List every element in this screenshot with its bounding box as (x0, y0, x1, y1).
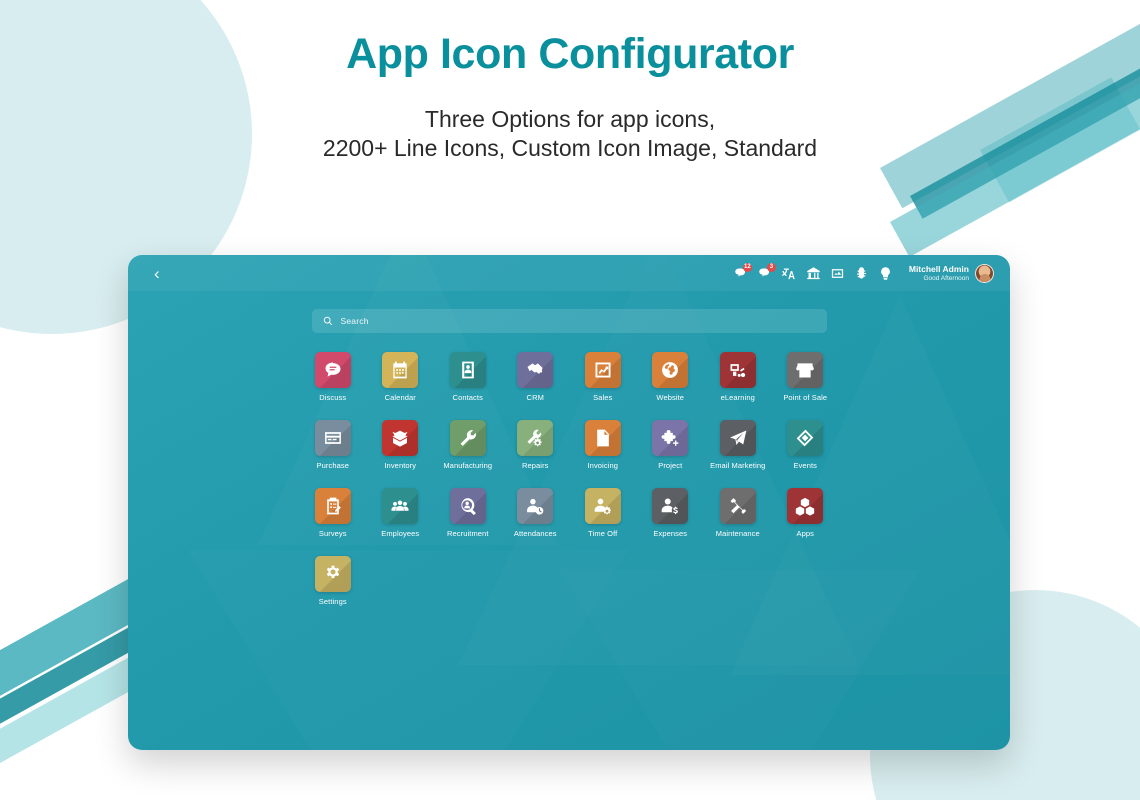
app-tile-project[interactable]: Project (637, 420, 705, 470)
app-icon-tile[interactable] (315, 556, 351, 592)
app-icon-tile[interactable] (450, 352, 486, 388)
page-subtitle-line-2: 2200+ Line Icons, Custom Icon Image, Sta… (0, 134, 1140, 163)
app-tile-inventory[interactable]: Inventory (367, 420, 435, 470)
app-icon-tile[interactable] (315, 488, 351, 524)
app-icon-tile[interactable] (787, 352, 823, 388)
app-icon-tile[interactable] (585, 420, 621, 456)
activities-icon[interactable]: 3 (758, 266, 773, 281)
messaging-badge: 12 (743, 263, 752, 272)
app-label: Contacts (453, 393, 483, 402)
app-tile-sales[interactable]: Sales (569, 352, 637, 402)
user-menu[interactable]: Mitchell Admin Good Afternoon (909, 264, 994, 283)
search-icon (323, 316, 333, 326)
systray: 12 3 (734, 264, 994, 283)
app-icon-tile[interactable] (517, 352, 553, 388)
app-tile-settings[interactable]: Settings (299, 556, 367, 606)
app-label: Sales (593, 393, 612, 402)
app-label: Purchase (317, 461, 350, 470)
app-icon-tile[interactable] (585, 488, 621, 524)
app-tile-elearning[interactable]: eLearning (704, 352, 772, 402)
app-icon-tile[interactable] (652, 352, 688, 388)
app-icon-tile[interactable] (720, 352, 756, 388)
app-tile-email-marketing[interactable]: Email Marketing (704, 420, 772, 470)
person-gear-icon (593, 496, 613, 516)
app-label: eLearning (721, 393, 755, 402)
app-label: Point of Sale (783, 393, 827, 402)
app-tile-apps[interactable]: Apps (772, 488, 840, 538)
app-label: Project (658, 461, 682, 470)
app-label: Apps (797, 529, 815, 538)
app-tile-point-of-sale[interactable]: Point of Sale (772, 352, 840, 402)
app-label: Email Marketing (710, 461, 765, 470)
app-icon-tile[interactable] (315, 352, 351, 388)
gallery-icon[interactable] (830, 266, 845, 281)
magnifier-person-icon (458, 496, 478, 516)
page-title: App Icon Configurator (0, 30, 1140, 79)
user-name: Mitchell Admin (909, 264, 969, 274)
person-clock-icon (525, 496, 545, 516)
open-box-icon (390, 428, 410, 448)
app-icon-tile[interactable] (720, 420, 756, 456)
user-greeting: Good Afternoon (909, 274, 969, 283)
gear-icon (323, 564, 343, 584)
app-label: Website (656, 393, 684, 402)
chart-up-icon (593, 360, 613, 380)
contact-card-icon (458, 360, 478, 380)
calendar-icon (390, 360, 410, 380)
ticket-icon (795, 428, 815, 448)
storefront-icon (795, 360, 815, 380)
clipboard-pen-icon (323, 496, 343, 516)
app-icon-tile[interactable] (517, 420, 553, 456)
app-tile-attendances[interactable]: Attendances (502, 488, 570, 538)
app-tile-crm[interactable]: CRM (502, 352, 570, 402)
invoice-dollar-icon (593, 428, 613, 448)
app-label: Calendar (385, 393, 416, 402)
app-tile-maintenance[interactable]: Maintenance (704, 488, 772, 538)
bug-icon[interactable] (854, 266, 869, 281)
app-label: Surveys (319, 529, 347, 538)
avatar[interactable] (975, 264, 994, 283)
app-icon-tile[interactable] (517, 488, 553, 524)
app-icon-tile[interactable] (720, 488, 756, 524)
app-label: Recruitment (447, 529, 489, 538)
puzzle-plus-icon (660, 428, 680, 448)
app-label: Discuss (319, 393, 346, 402)
app-icon-tile[interactable] (585, 352, 621, 388)
people-group-icon (390, 496, 410, 516)
app-icon-tile[interactable] (382, 420, 418, 456)
search-input[interactable]: Search (312, 309, 827, 333)
hammer-icon (728, 496, 748, 516)
window-top-bar: ‹ 12 3 (128, 255, 1010, 291)
lightbulb-icon[interactable] (878, 266, 893, 281)
globe-icon (660, 360, 680, 380)
activities-badge: 3 (767, 263, 776, 272)
app-label: Attendances (514, 529, 557, 538)
handshake-icon (525, 360, 545, 380)
app-icon-tile[interactable] (450, 488, 486, 524)
search-placeholder: Search (341, 316, 369, 326)
app-label: Events (793, 461, 817, 470)
app-label: Inventory (384, 461, 416, 470)
app-label: Expenses (653, 529, 687, 538)
app-grid: DiscussCalendarContactsCRMSalesWebsiteeL… (299, 352, 839, 606)
app-icon-tile[interactable] (450, 420, 486, 456)
paper-plane-icon (728, 428, 748, 448)
app-tile-expenses[interactable]: Expenses (637, 488, 705, 538)
app-tile-purchase[interactable]: Purchase (299, 420, 367, 470)
app-icon-tile[interactable] (787, 420, 823, 456)
search-row: Search (128, 291, 1010, 333)
app-window: ‹ 12 3 (128, 255, 1010, 750)
app-label: Employees (381, 529, 419, 538)
app-tile-manufacturing[interactable]: Manufacturing (434, 420, 502, 470)
app-tile-discuss[interactable]: Discuss (299, 352, 367, 402)
app-icon-tile[interactable] (652, 420, 688, 456)
app-label: Manufacturing (443, 461, 492, 470)
person-dollar-icon (660, 496, 680, 516)
blocks-icon (795, 496, 815, 516)
app-label: Repairs (522, 461, 549, 470)
app-tile-invoicing[interactable]: Invoicing (569, 420, 637, 470)
app-tile-repairs[interactable]: Repairs (502, 420, 570, 470)
app-tile-employees[interactable]: Employees (367, 488, 435, 538)
page-subtitle-line-1: Three Options for app icons, (0, 105, 1140, 134)
app-icon-tile[interactable] (315, 420, 351, 456)
app-tile-recruitment[interactable]: Recruitment (434, 488, 502, 538)
app-tile-surveys[interactable]: Surveys (299, 488, 367, 538)
credit-card-icon (323, 428, 343, 448)
back-button[interactable]: ‹ (154, 265, 160, 282)
messaging-icon[interactable]: 12 (734, 266, 749, 281)
projector-icon (728, 360, 748, 380)
app-icon-tile[interactable] (652, 488, 688, 524)
wrench-gear-icon (525, 428, 545, 448)
app-tile-contacts[interactable]: Contacts (434, 352, 502, 402)
translate-icon[interactable] (782, 266, 797, 281)
user-info: Mitchell Admin Good Afternoon (909, 264, 969, 283)
promo-banner: App Icon Configurator Three Options for … (0, 0, 1140, 800)
speech-bubble-icon (323, 360, 343, 380)
app-icon-tile[interactable] (382, 352, 418, 388)
app-icon-tile[interactable] (382, 488, 418, 524)
company-icon[interactable] (806, 266, 821, 281)
app-tile-time-off[interactable]: Time Off (569, 488, 637, 538)
app-tile-events[interactable]: Events (772, 420, 840, 470)
app-tile-website[interactable]: Website (637, 352, 705, 402)
app-label: Time Off (588, 529, 617, 538)
app-label: Settings (319, 597, 347, 606)
app-label: Invoicing (587, 461, 618, 470)
page-subtitle: Three Options for app icons, 2200+ Line … (0, 105, 1140, 163)
app-label: Maintenance (716, 529, 760, 538)
app-tile-calendar[interactable]: Calendar (367, 352, 435, 402)
app-label: CRM (527, 393, 544, 402)
app-icon-tile[interactable] (787, 488, 823, 524)
wrench-icon (458, 428, 478, 448)
